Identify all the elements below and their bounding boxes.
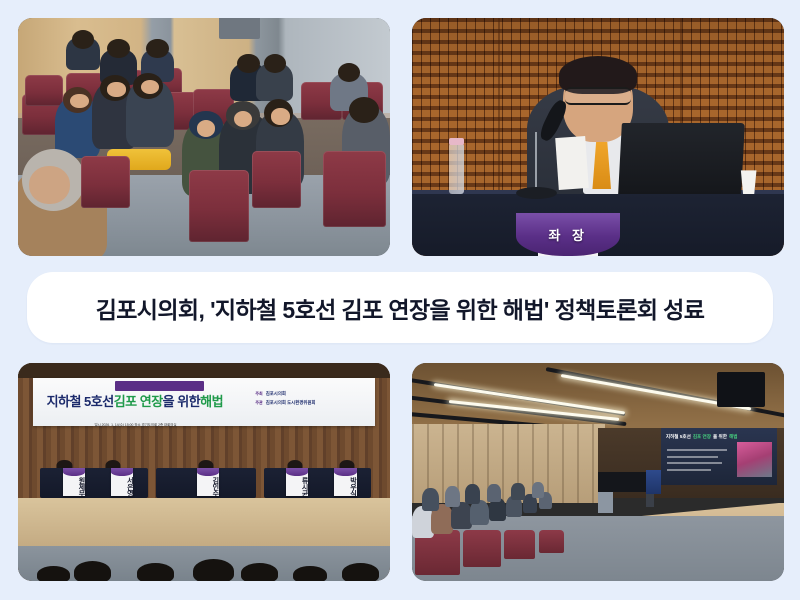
presentation-screen: 지하철 5호선 김포 연장 을 위한 해법 (661, 428, 776, 485)
attendee-head (349, 97, 379, 123)
banner-title-part-4: 해법 (200, 395, 223, 408)
nameplate-role (197, 468, 219, 476)
seat (81, 156, 129, 208)
banner-date-text: 일시 2026. 1. 14(수) 15:00 장소 경기도의회 2층 대회의실 (94, 423, 176, 427)
page-title: 김포시의회, '지하철 5호선 김포 연장을 위한 해법' 정책토론회 성료 (96, 291, 705, 325)
audience-head (37, 566, 70, 581)
nameplate-role (111, 468, 133, 476)
organizer-key: 주최 (255, 391, 262, 397)
nameplate-role (334, 468, 356, 476)
screen-title-part-1: 지하철 5호선 (666, 434, 691, 440)
hall-crowd (412, 463, 583, 559)
seat (189, 170, 249, 241)
attendee-face (197, 120, 216, 137)
attendee-face (271, 108, 290, 125)
crowd-person (422, 488, 439, 511)
chair-placard-label: 좌 장 (548, 225, 588, 244)
crowd-person (465, 484, 480, 503)
nameplate-name: 원제무 (63, 476, 85, 496)
nameplate: 서은영 (111, 468, 133, 496)
screen-title-part-3: 을 위한 (713, 434, 727, 440)
crowd-person (487, 484, 501, 501)
crowd-seat (539, 530, 565, 553)
screen-text-line (667, 449, 727, 451)
laptop (618, 123, 744, 194)
nameplate-name: 서은영 (111, 476, 133, 496)
screen-text-line (667, 462, 722, 464)
glasses-icon (565, 87, 632, 105)
photo-panel-discussion: 지하철 5호선 김포 연장 을 위한 해법 일시 2026. 1. 14(수) … (18, 363, 390, 581)
attendee-face (70, 94, 89, 108)
crowd-person (532, 482, 544, 497)
banner-title-part-2: 김포 연장 (114, 395, 163, 408)
audience-head (241, 563, 278, 581)
banner-title: 지하철 5호선 김포 연장 을 위한 해법 (47, 392, 266, 411)
seat (252, 151, 300, 208)
banner-title-part-3: 을 위한 (163, 395, 201, 408)
nameplate: 원제무 (63, 468, 85, 496)
event-banner: 지하철 5호선 김포 연장 을 위한 해법 일시 2026. 1. 14(수) … (33, 378, 375, 426)
water-bottle-cap (449, 138, 464, 145)
organizer-row: 주관 김포시의회 도시환경위원회 (255, 400, 365, 406)
banner-subtitle-bar (115, 381, 204, 391)
attendee-head (264, 54, 286, 73)
audience-head (342, 563, 379, 581)
nameplate: 김인수 (197, 468, 219, 496)
water-bottle (449, 144, 464, 194)
banner-title-part-1: 지하철 5호선 (47, 395, 114, 408)
speech-paper (555, 136, 588, 190)
national-flag (646, 470, 661, 494)
wall-vent (219, 18, 260, 39)
stage-monitor (598, 472, 650, 492)
crowd-seat (504, 530, 535, 559)
photo-audience-seated (18, 18, 390, 256)
podium (598, 492, 613, 514)
nameplate-name: 류시균 (286, 476, 308, 496)
photo-hall-wide: 지하철 5호선 김포 연장 을 위한 해법 (412, 363, 784, 581)
audience-head (293, 566, 326, 581)
screen-photo-thumbnail (737, 442, 772, 477)
nameplate: 류시균 (286, 468, 308, 496)
attendee-head (237, 54, 259, 73)
attendee-head (107, 39, 129, 58)
banner-organizers: 주최 김포시의회 주관 김포시의회 도시환경위원회 (255, 391, 365, 415)
seat (25, 75, 62, 106)
attendee-head (146, 39, 168, 58)
nameplate-role (286, 468, 308, 476)
organizer-row: 주최 김포시의회 (255, 391, 365, 397)
microphone-base (516, 187, 557, 199)
screen-title: 지하철 5호선 김포 연장 을 위한 해법 (666, 432, 772, 442)
screen-title-part-2: 김포 연장 (693, 434, 711, 440)
microphone-stand (535, 132, 537, 194)
screen-text-line (667, 469, 711, 471)
organizer-value: 김포시의회 도시환경위원회 (266, 400, 316, 406)
foreground-attendee-face (29, 166, 70, 204)
audience-head (137, 563, 174, 581)
organizer-key: 주관 (255, 400, 262, 406)
crowd-seat (463, 530, 501, 566)
headline-card: 김포시의회, '지하철 5호선 김포 연장을 위한 해법' 정책토론회 성료 (27, 272, 773, 343)
organizer-value: 김포시의회 (266, 391, 286, 397)
attendee-face (107, 82, 126, 96)
attendee-head (72, 30, 94, 49)
screen-text-line (667, 456, 718, 458)
screen-title-part-4: 해법 (729, 434, 737, 440)
speaker-box (717, 372, 765, 407)
crowd-person (445, 486, 460, 507)
seat (323, 151, 386, 227)
stage-floor (18, 498, 390, 546)
audience-head (74, 561, 111, 581)
photo-collage: 좌 장 김포시의회, '지하철 5호선 김포 연장을 위한 해법' 정책토론회 … (0, 0, 800, 600)
stage-ceiling (18, 363, 390, 378)
nameplate-name: 김인수 (197, 476, 219, 496)
photo-chair-speaking: 좌 장 (412, 18, 784, 256)
banner-date-line: 일시 2026. 1. 14(수) 15:00 장소 경기도의회 2층 대회의실 (94, 413, 251, 421)
nameplate-name: 박우식 (334, 476, 356, 496)
nameplate: 박우식 (334, 468, 356, 496)
audience-head (193, 559, 234, 581)
crowd-person (511, 483, 525, 499)
chair-placard: 좌 장 (516, 213, 620, 256)
nameplate-role (63, 468, 85, 476)
